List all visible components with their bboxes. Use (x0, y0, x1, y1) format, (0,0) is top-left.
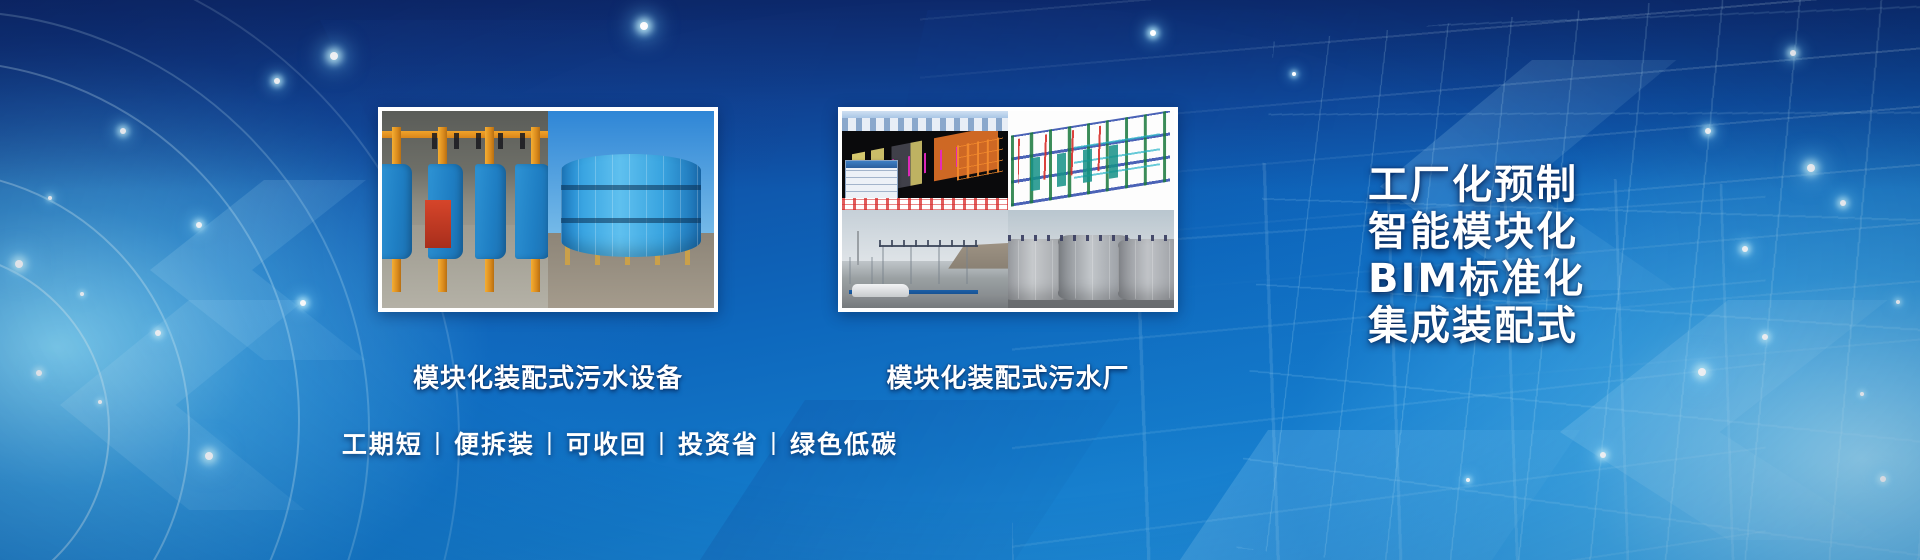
dialog-fields (846, 168, 897, 199)
tagline-separator: 丨 (423, 430, 454, 459)
app-titlebar (842, 111, 1008, 118)
photo-blue-tank (548, 111, 714, 308)
tagline-separator: 丨 (535, 430, 566, 459)
dialog-titlebar (846, 161, 897, 168)
tank-ribs (561, 154, 700, 256)
tagline-item: 绿色低碳 (790, 430, 898, 459)
cad-dialog (845, 160, 898, 199)
tagline-separator: 丨 (647, 430, 678, 459)
panel-left-caption: 模块化装配式污水设备 (378, 358, 718, 395)
photo-factory-panels (382, 111, 548, 308)
grey-tank (1118, 239, 1174, 300)
roof-railing (879, 240, 979, 247)
tagline-item: 可收回 (566, 430, 647, 459)
slogan-line-3: BIM标准化 (1368, 256, 1838, 303)
tagline-item: 工期短 (342, 430, 423, 459)
tagline-item: 便拆装 (454, 430, 535, 459)
tagline-item: 投资省 (678, 430, 759, 459)
panel-right[interactable] (838, 107, 1178, 312)
slogan-line-4: 集成装配式 (1368, 303, 1838, 350)
tank-band (561, 185, 700, 190)
parked-car (875, 284, 909, 297)
photo-plant-buildings (842, 210, 1008, 309)
modular-building (882, 245, 975, 284)
modular-building (849, 257, 889, 285)
tank-ribs (1118, 239, 1174, 300)
red-equipment (425, 200, 451, 248)
bolted-steel-tank (561, 154, 700, 256)
panel-right-caption: 模块化装配式污水厂 (838, 358, 1178, 395)
tank-band (561, 218, 700, 223)
feature-tagline: 工期短丨便拆装丨可收回丨投资省丨绿色低碳 (0, 425, 1240, 461)
photo-tank-farm (1008, 210, 1174, 309)
slogan-block: 工厂化预制智能模块化BIM标准化集成装配式 (1368, 162, 1838, 350)
blue-steel-panel (382, 164, 412, 259)
orange-structure-grid (957, 137, 1003, 181)
cad-data-table (842, 198, 1008, 210)
promo-banner: 模块化装配式污水设备 模块化装配式污水厂 工期短丨便拆装丨可收回丨投资省丨绿色低… (0, 0, 1920, 560)
photo-piping-model (1008, 111, 1174, 210)
slogan-line-2: 智能模块化 (1368, 209, 1838, 256)
walkway-railing (1008, 235, 1174, 241)
blue-steel-panel (475, 164, 507, 259)
street-lamp (857, 231, 859, 264)
app-toolbar (842, 118, 1008, 131)
photo-cad-software (842, 111, 1008, 210)
blue-steel-panel (515, 164, 548, 259)
tagline-separator: 丨 (759, 430, 790, 459)
slogan-line-1: 工厂化预制 (1368, 162, 1838, 209)
panel-left[interactable] (378, 107, 718, 312)
